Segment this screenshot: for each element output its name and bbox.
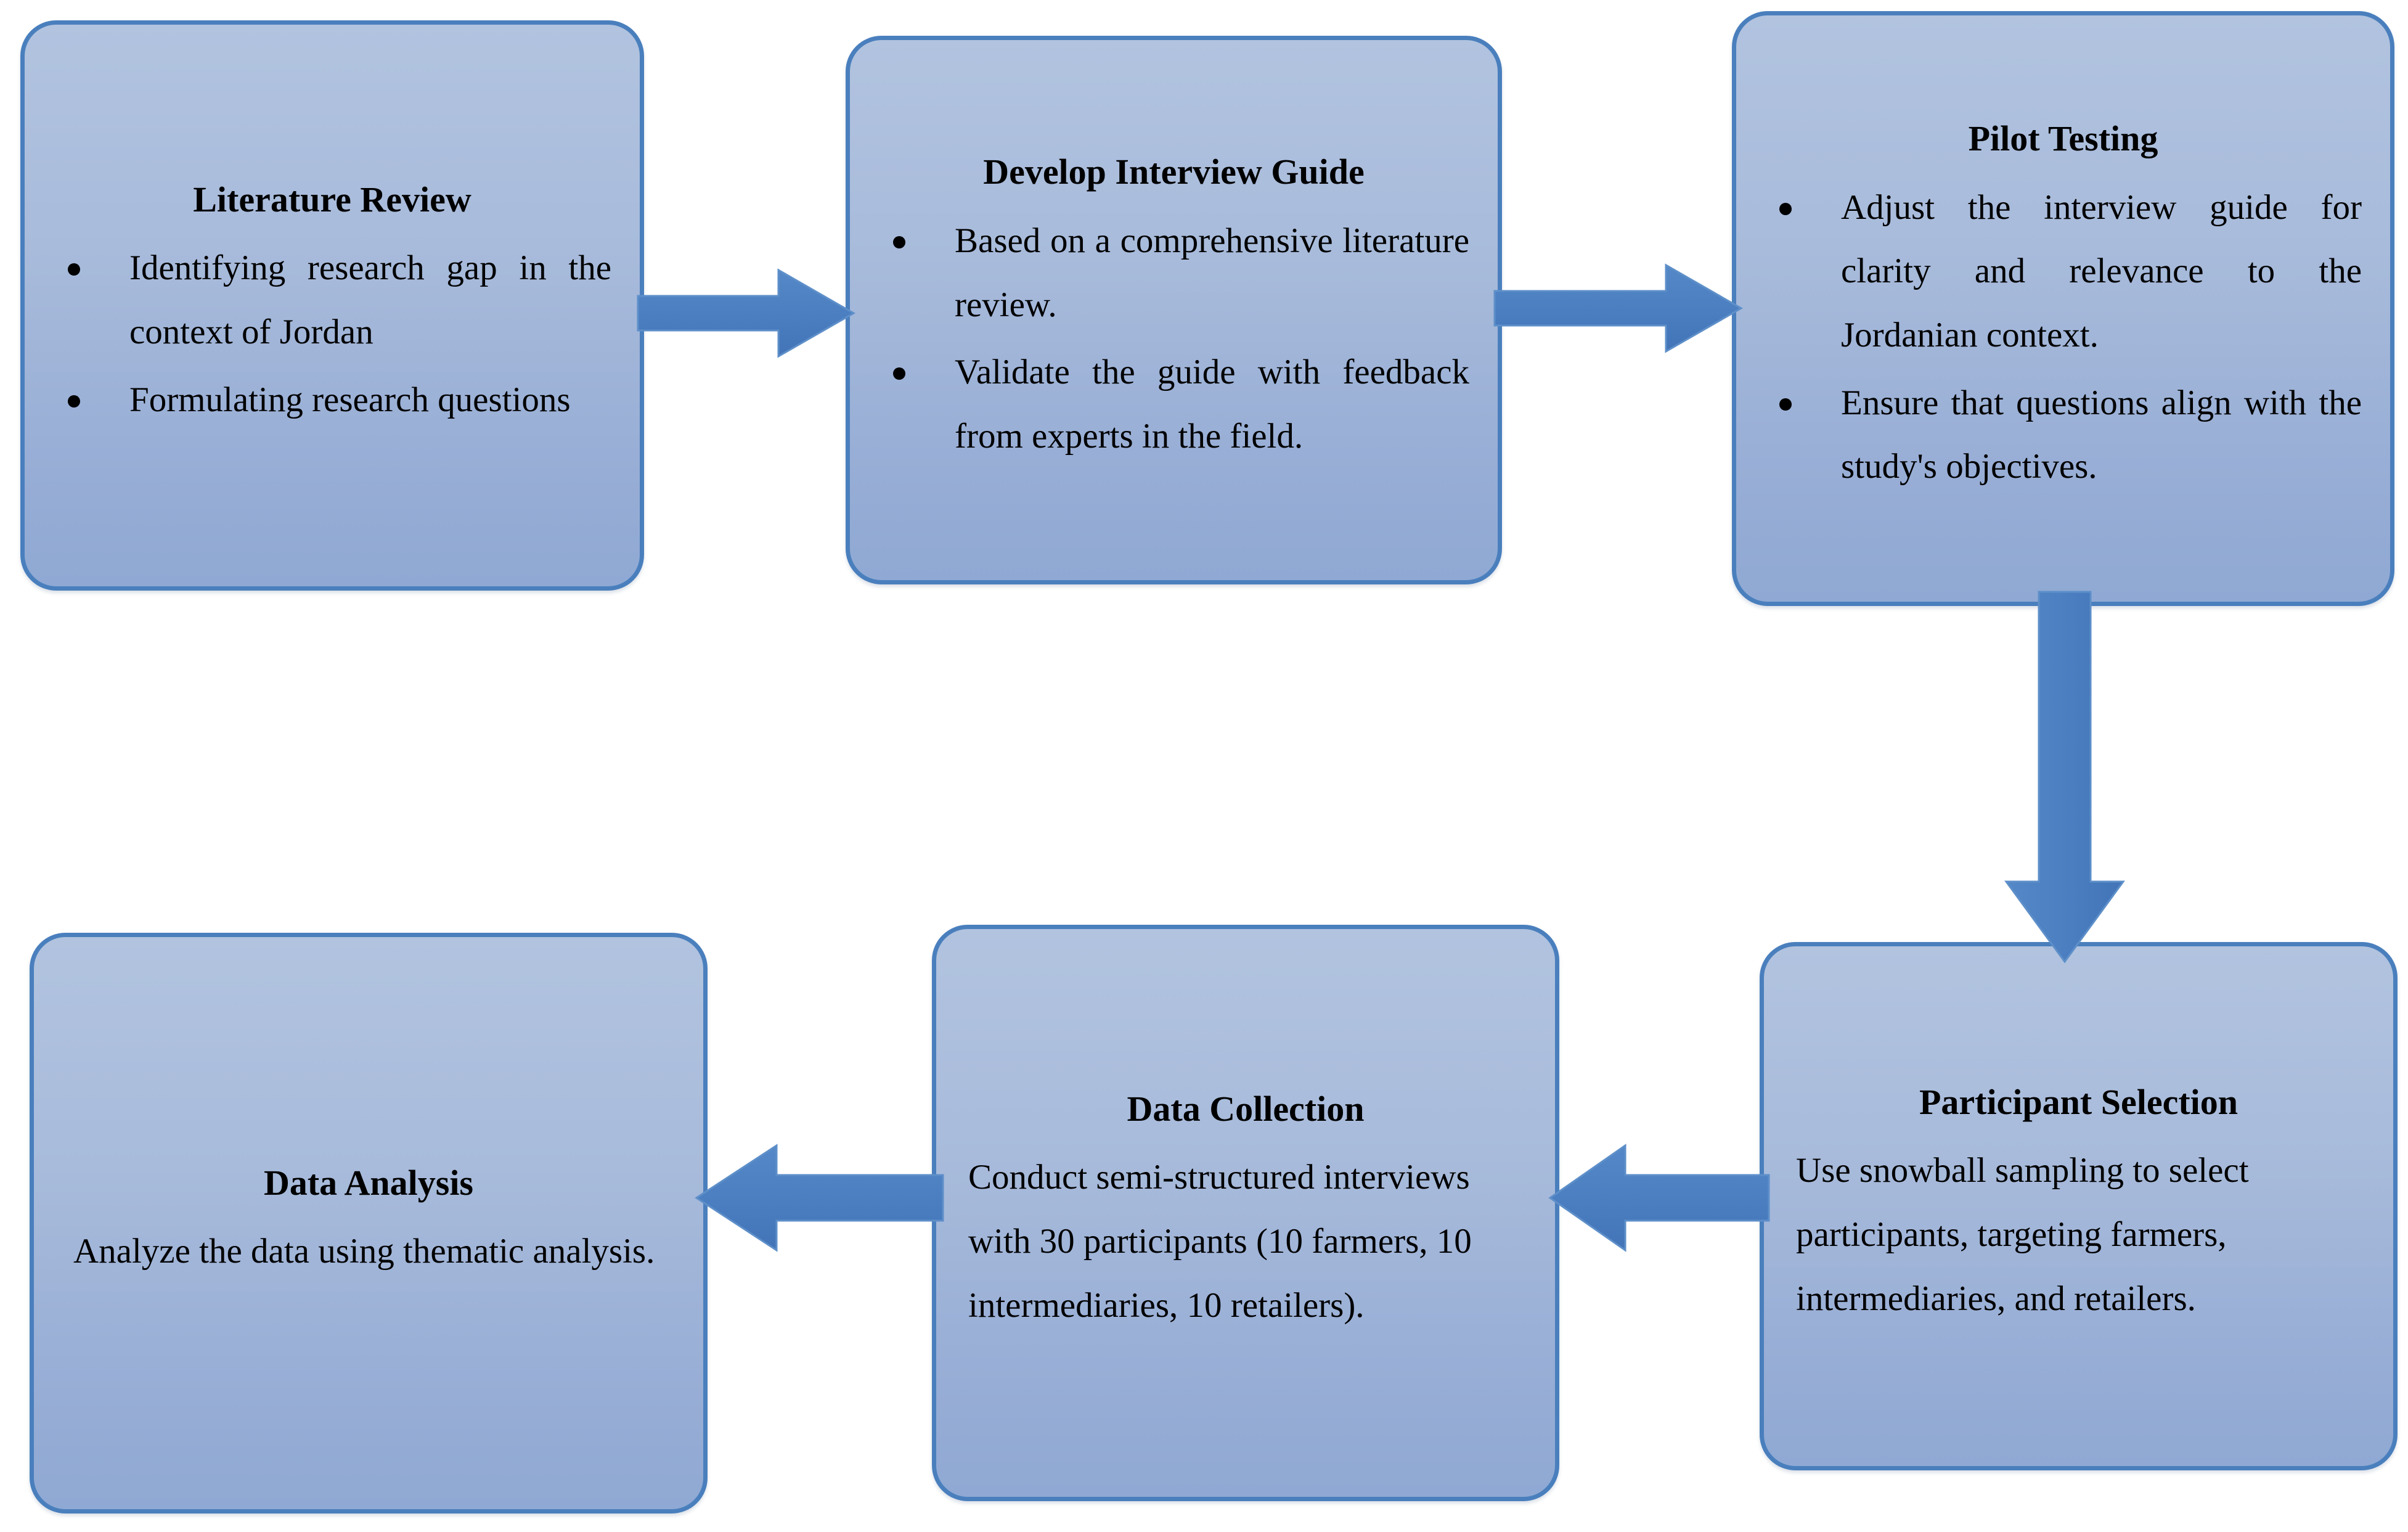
node-body: Identifying research gap in the context … [25, 236, 640, 432]
list-item: Formulating research questions [60, 368, 611, 432]
node-body: Conduct semi-structured interviews with … [936, 1145, 1555, 1337]
arrow-right-guide-to-pilot [1495, 265, 1741, 351]
flowchart-canvas: Literature Review Identifying research g… [0, 0, 2408, 1532]
list-item: Validate the guide with feedback from ex… [886, 340, 1469, 468]
node-body: Based on a comprehensive literature revi… [850, 209, 1498, 469]
list-item: Identifying research gap in the context … [60, 236, 611, 364]
list-item: Ensure that questions align with the stu… [1772, 371, 2362, 499]
node-body: Use snowball sampling to select particip… [1764, 1139, 2393, 1330]
arrow-left-collection-to-analysis [696, 1145, 943, 1250]
node-participant-selection[interactable]: Participant Selection Use snowball sampl… [1760, 942, 2398, 1470]
node-title: Participant Selection [1764, 1082, 2393, 1123]
node-pilot-testing[interactable]: Pilot Testing Adjust the interview guide… [1732, 11, 2394, 606]
arrow-right-literature-to-guide [638, 270, 854, 356]
node-title: Pilot Testing [1736, 118, 2390, 160]
node-paragraph: Analyze the data using thematic analysis… [34, 1219, 703, 1284]
node-body: Adjust the interview guide for clarity a… [1736, 176, 2390, 499]
arrow-left-participant-to-collection [1550, 1145, 1769, 1250]
node-literature-review[interactable]: Literature Review Identifying research g… [20, 20, 644, 591]
bullet-list: Adjust the interview guide for clarity a… [1736, 176, 2390, 499]
node-title: Data Collection [936, 1089, 1555, 1130]
node-body: Analyze the data using thematic analysis… [34, 1219, 703, 1284]
list-item: Adjust the interview guide for clarity a… [1772, 176, 2362, 367]
bullet-list: Based on a comprehensive literature revi… [850, 209, 1498, 469]
node-paragraph: Conduct semi-structured interviews with … [936, 1145, 1555, 1337]
bullet-list: Identifying research gap in the context … [25, 236, 640, 432]
node-data-collection[interactable]: Data Collection Conduct semi-structured … [932, 925, 1559, 1501]
list-item: Based on a comprehensive literature revi… [886, 209, 1469, 337]
node-title: Develop Interview Guide [850, 152, 1498, 193]
node-title: Data Analysis [34, 1163, 703, 1204]
node-paragraph: Use snowball sampling to select particip… [1764, 1139, 2393, 1330]
node-title: Literature Review [25, 179, 640, 221]
arrow-down-pilot-to-participant [2006, 592, 2123, 962]
node-data-analysis[interactable]: Data Analysis Analyze the data using the… [30, 933, 708, 1514]
node-develop-interview-guide[interactable]: Develop Interview Guide Based on a compr… [846, 36, 1502, 584]
